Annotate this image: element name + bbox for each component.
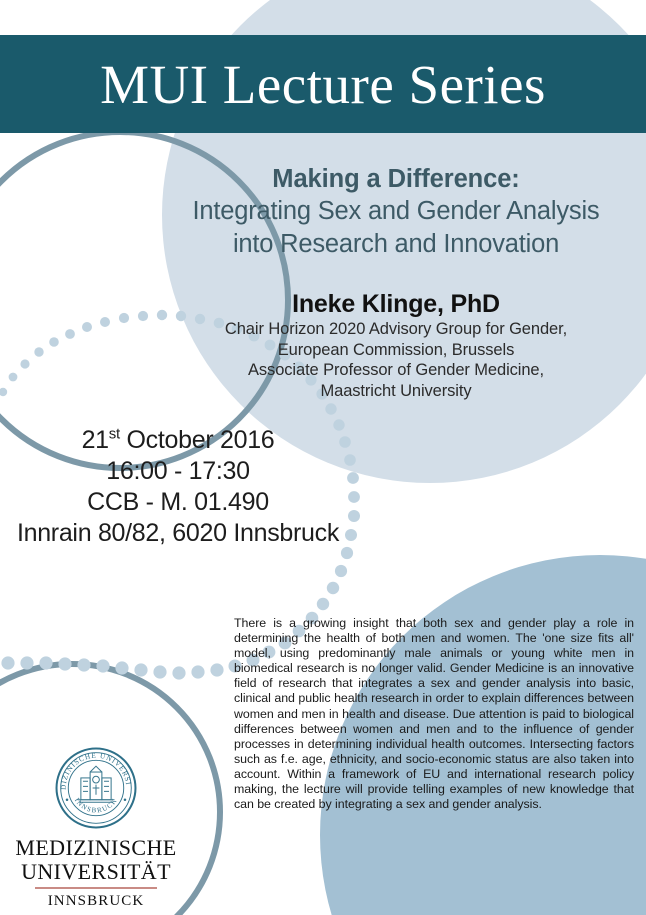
- logo-divider-rule: [35, 887, 157, 889]
- speaker-affiliation-1: Chair Horizon 2020 Advisory Group for Ge…: [150, 319, 642, 340]
- university-name-line-1: MEDIZINISCHE: [6, 836, 186, 860]
- speaker-block: Ineke Klinge, PhD Chair Horizon 2020 Adv…: [150, 289, 642, 401]
- event-date-rest: October 2016: [120, 426, 275, 454]
- lecture-poster: MUI Lecture Series Making a Difference: …: [0, 0, 646, 915]
- speaker-affiliation-4: Maastricht University: [150, 381, 642, 402]
- poster-series-title: MUI Lecture Series: [100, 57, 546, 112]
- event-address: Innrain 80/82, 6020 Innsbruck: [0, 518, 356, 549]
- svg-text:MEDIZINISCHE UNIVERSITÄT: MEDIZINISCHE UNIVERSITÄT: [54, 746, 132, 790]
- event-date-ordinal: st: [109, 426, 120, 443]
- university-city: INNSBRUCK: [6, 893, 186, 910]
- seal-top-text: MEDIZINISCHE UNIVERSITÄT: [54, 746, 132, 790]
- lecture-title-block: Making a Difference: Integrating Sex and…: [150, 163, 642, 261]
- university-logo: MEDIZINISCHE UNIVERSITÄT INNSBRUCK MEDIZ…: [6, 746, 186, 910]
- event-date: 21st October 2016: [0, 425, 356, 456]
- speaker-affiliation-3: Associate Professor of Gender Medicine,: [150, 360, 642, 381]
- university-seal-icon: MEDIZINISCHE UNIVERSITÄT INNSBRUCK: [54, 746, 138, 830]
- speaker-name: Ineke Klinge, PhD: [150, 289, 642, 319]
- lecture-title-line3: into Research and Innovation: [150, 228, 642, 261]
- lecture-title-main: Making a Difference:: [150, 163, 642, 195]
- event-time: 16:00 - 17:30: [0, 456, 356, 487]
- speaker-affiliation-2: European Commission, Brussels: [150, 340, 642, 361]
- lecture-title-line2: Integrating Sex and Gender Analysis: [150, 195, 642, 228]
- event-room: CCB - M. 01.490: [0, 487, 356, 518]
- event-date-day: 21: [82, 426, 109, 454]
- abstract-text: There is a growing insight that both sex…: [234, 616, 634, 812]
- university-name-line-2: UNIVERSITÄT: [6, 860, 186, 884]
- header-banner: MUI Lecture Series: [0, 35, 646, 133]
- event-details-block: 21st October 2016 16:00 - 17:30 CCB - M.…: [0, 425, 356, 549]
